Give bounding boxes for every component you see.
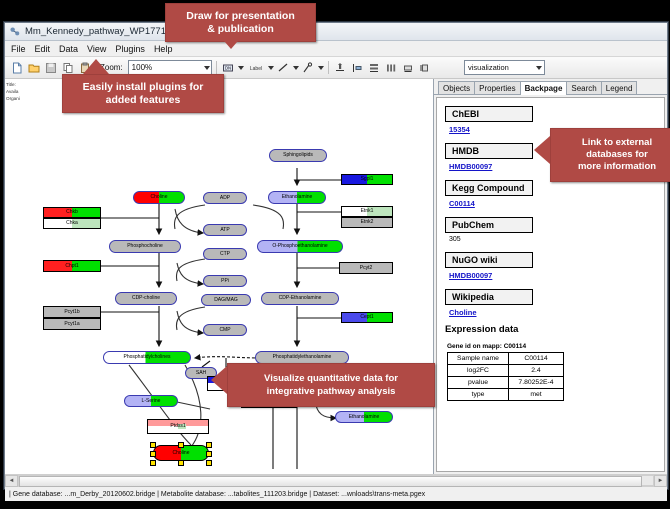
callout-links-line1: Link to external (582, 137, 652, 149)
section-header-nugo-wiki: NuGO wiki (445, 252, 533, 268)
node-cmp[interactable]: CMP (203, 324, 247, 336)
node-label: ADP (220, 196, 230, 201)
value-pubchem: 305 (449, 236, 656, 243)
node-adp[interactable]: ADP (203, 192, 247, 204)
node-label: O-Phosphoethanolamine (272, 244, 327, 249)
node-ptdss1[interactable]: Ptdss1 (147, 419, 209, 434)
cell-key: Sample name (448, 353, 509, 365)
open-folder-icon[interactable] (26, 60, 41, 75)
svg-text:Label: Label (250, 66, 262, 72)
scroll-right-icon[interactable]: ► (654, 475, 667, 487)
node-choline-top[interactable]: Choline (133, 191, 185, 204)
table-row: type met (448, 389, 564, 401)
expression-data-heading: Expression data (445, 324, 656, 335)
node-label: CTP (220, 252, 230, 257)
cell-key: type (448, 389, 509, 401)
node-label: Sgpl1 (361, 177, 374, 182)
menu-item-file[interactable]: File (11, 44, 26, 54)
cell-value: 7.80252E-4 (509, 377, 564, 389)
node-ctp[interactable]: CTP (203, 248, 247, 260)
node-dag-mag[interactable]: DAG/MAG (201, 294, 251, 306)
node-l-serine-left[interactable]: L-Serine (124, 395, 178, 407)
selection-handle[interactable] (178, 460, 184, 466)
callout-links: Link to external databases for more info… (550, 128, 670, 182)
node-chpt1[interactable]: Chpt1 (43, 260, 101, 272)
new-file-icon[interactable] (9, 60, 24, 75)
node-chkb[interactable]: Chkb (43, 207, 101, 218)
node-label: Pcyt2 (360, 266, 373, 271)
callout-visualize-line1: Visualize quantitative data for (264, 372, 398, 385)
node-label: Phosphocholine (127, 244, 163, 249)
selection-handle[interactable] (206, 451, 212, 457)
node-sphingolipids[interactable]: Sphingolipids (269, 149, 327, 162)
node-label: CMP (219, 328, 230, 333)
zoom-value: 100% (132, 63, 152, 72)
node-atp[interactable]: ATP (203, 224, 247, 236)
selection-handle[interactable] (150, 460, 156, 466)
callout-plugins-arrow-icon (83, 59, 109, 74)
node-label: Sphingolipids (283, 153, 313, 158)
callout-plugins-line1: Easily install plugins for (83, 81, 204, 94)
callout-links-arrow-icon (534, 136, 550, 164)
toolbar-separator (328, 61, 329, 74)
node-label: DAG/MAG (214, 298, 238, 303)
table-row: Sample name C00114 (448, 353, 564, 365)
tab-legend[interactable]: Legend (601, 81, 638, 94)
node-label: ATP (220, 228, 229, 233)
node-label: Chkb (66, 210, 78, 215)
expression-table: Sample name C00114 log2FC 2.4 pvalue 7.8… (447, 352, 564, 401)
node-chka[interactable]: Chka (43, 218, 101, 229)
label-icon[interactable]: Label (246, 60, 266, 75)
node-ethanolamine-lower[interactable]: Ethanolamine (335, 411, 393, 423)
node-pcyt2[interactable]: Pcyt2 (339, 262, 393, 274)
menu-bar: File Edit Data View Plugins Help (5, 41, 667, 57)
visualization-value: visualization (468, 63, 509, 72)
chevron-down-icon[interactable] (318, 66, 324, 70)
cell-key: pvalue (448, 377, 509, 389)
table-row: log2FC 2.4 (448, 365, 564, 377)
size-height-icon[interactable] (418, 60, 433, 75)
align-top-icon[interactable] (333, 60, 348, 75)
callout-links-line2: databases for (586, 149, 648, 161)
node-cdp-choline[interactable]: CDP-choline (115, 292, 177, 305)
node-label: Ethanolamine (282, 195, 313, 200)
interaction-icon[interactable] (301, 60, 316, 75)
node-label: Pcyt1b (64, 310, 79, 315)
node-label: Pcyt1a (64, 322, 79, 327)
node-label: Choline (151, 195, 168, 200)
distribute-icon[interactable] (384, 60, 399, 75)
status-bar: | Gene database: ...m_Derby_20120602.bri… (5, 486, 667, 501)
callout-visualize-arrow-icon (211, 366, 227, 394)
visualization-combobox[interactable]: visualization (464, 60, 545, 75)
node-ethanolamine-top[interactable]: Ethanolamine (268, 191, 326, 204)
line-icon[interactable] (276, 60, 291, 75)
link-kegg-compound[interactable]: C00114 (449, 199, 656, 208)
node-label: SAH (196, 371, 206, 376)
section-header-chebi: ChEBI (445, 106, 533, 122)
window-titlebar: Mm_Kennedy_pathway_WP1771_45176.gpml (5, 23, 667, 41)
copy-icon[interactable] (60, 60, 75, 75)
node-label: PPi (221, 279, 229, 284)
section-header-hmdb: HMDB (445, 143, 533, 159)
menu-item-edit[interactable]: Edit (35, 44, 51, 54)
node-label: CDP-choline (132, 296, 160, 301)
horizontal-scrollbar[interactable]: ◄ ► (5, 474, 667, 486)
callout-plugins: Easily install plugins for added feature… (62, 74, 224, 113)
zoom-combobox[interactable]: 100% (128, 60, 212, 75)
node-label: Cept1 (360, 315, 373, 320)
link-wikipedia[interactable]: Choline (449, 308, 656, 317)
node-sgpl1[interactable]: Sgpl1 (341, 174, 393, 185)
section-header-pubchem: PubChem (445, 217, 533, 233)
node-etnk2[interactable]: Etnk2 (341, 217, 393, 228)
status-text: | Gene database: ...m_Derby_20120602.bri… (9, 491, 425, 498)
section-header-wikipedia: Wikipedia (445, 289, 533, 305)
node-label: Phosphatidylethanolamine (273, 355, 332, 360)
node-label: Phosphatidylcholines (124, 355, 171, 360)
datanode-icon[interactable]: DN (221, 60, 236, 75)
section-header-kegg-compound: Kegg Compound (445, 180, 533, 196)
callout-visualize: Visualize quantitative data for integrat… (227, 363, 435, 407)
selection-handle[interactable] (150, 442, 156, 448)
table-row: pvalue 7.80252E-4 (448, 377, 564, 389)
toolbar-separator (216, 61, 217, 74)
cell-value: C00114 (509, 353, 564, 365)
node-o-phosphoethanolamine[interactable]: O-Phosphoethanolamine (257, 240, 343, 253)
node-ppi[interactable]: PPi (203, 275, 247, 287)
scroll-thumb[interactable] (19, 476, 642, 487)
menu-item-help[interactable]: Help (154, 44, 173, 54)
cell-value: met (509, 389, 564, 401)
node-label: CDP-Ethanolamine (279, 296, 322, 301)
node-pcyt1a[interactable]: Pcyt1a (43, 318, 101, 330)
tab-backpage[interactable]: Backpage (520, 81, 568, 95)
chevron-down-icon[interactable] (204, 66, 210, 70)
pathway-canvas[interactable]: Title: Availa Organi (5, 79, 434, 474)
node-label: Chpt1 (65, 264, 78, 269)
tab-search[interactable]: Search (566, 81, 601, 94)
menu-item-plugins[interactable]: Plugins (115, 44, 145, 54)
node-label: Choline (173, 451, 190, 456)
selection-handle[interactable] (178, 442, 184, 448)
callout-visualize-line2: integrative pathway analysis (267, 385, 396, 398)
callout-draw-arrow-icon (218, 34, 244, 49)
cell-value: 2.4 (509, 365, 564, 377)
scroll-track[interactable] (18, 475, 654, 486)
callout-visualize-arrow-right-icon (417, 366, 433, 394)
link-nugo-wiki[interactable]: HMDB00097 (449, 271, 656, 280)
sidebar-tabs: Objects Properties Backpage Search Legen… (434, 79, 667, 95)
node-label: L-Serine (142, 399, 161, 404)
node-label: Etnk2 (361, 220, 374, 225)
selection-handle[interactable] (150, 451, 156, 457)
node-etnk1[interactable]: Etnk1 (341, 206, 393, 217)
node-cept1[interactable]: Cept1 (341, 312, 393, 323)
selection-handle[interactable] (206, 442, 212, 448)
align-left-icon[interactable] (350, 60, 365, 75)
menu-item-view[interactable]: View (87, 44, 106, 54)
menu-item-data[interactable]: Data (59, 44, 78, 54)
node-phosphocholine[interactable]: Phosphocholine (109, 240, 181, 253)
callout-plugins-line2: added features (106, 94, 181, 107)
selection-handle[interactable] (206, 460, 212, 466)
tab-objects[interactable]: Objects (438, 81, 475, 94)
gene-id-label: Gene id on mapp: C00114 (447, 343, 656, 350)
svg-text:DN: DN (225, 65, 231, 70)
scroll-left-icon[interactable]: ◄ (5, 475, 18, 487)
node-cdp-ethanolamine[interactable]: CDP-Ethanolamine (261, 292, 339, 305)
node-label: Ptdss1 (170, 424, 185, 429)
node-label: Chka (66, 221, 78, 226)
pathvisio-icon (9, 26, 20, 37)
save-icon[interactable] (43, 60, 58, 75)
size-width-icon[interactable] (401, 60, 416, 75)
node-phosphatidylcholines[interactable]: Phosphatidylcholines (103, 351, 191, 364)
tab-properties[interactable]: Properties (474, 81, 520, 94)
chevron-down-icon[interactable] (293, 66, 299, 70)
stack-vertical-icon[interactable] (367, 60, 382, 75)
pathvisio-window: Mm_Kennedy_pathway_WP1771_45176.gpml Fil… (4, 22, 668, 489)
node-label: Ethanolamine (349, 415, 380, 420)
node-pcyt1b[interactable]: Pcyt1b (43, 306, 101, 318)
chevron-down-icon[interactable] (536, 66, 542, 70)
callout-links-line3: more information (578, 161, 656, 173)
node-label: Etnk1 (361, 209, 374, 214)
chevron-down-icon[interactable] (238, 66, 244, 70)
cell-key: log2FC (448, 365, 509, 377)
callout-draw-line1: Draw for presentation (186, 10, 295, 23)
chevron-down-icon[interactable] (268, 66, 274, 70)
